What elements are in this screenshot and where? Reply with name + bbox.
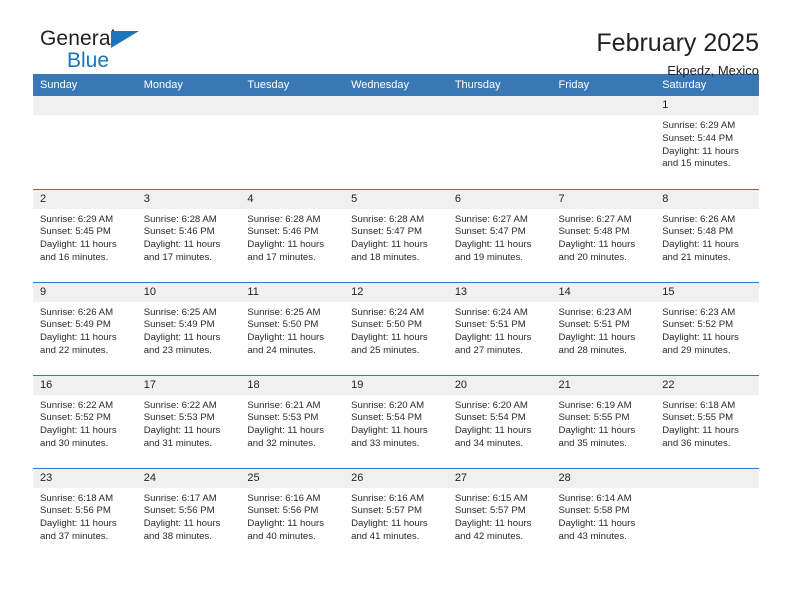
day-number: 3: [137, 190, 241, 209]
sunrise-text: Sunrise: 6:26 AM: [40, 307, 129, 320]
day-number: 14: [552, 283, 656, 302]
day-details: Sunrise: 6:28 AMSunset: 5:46 PMDaylight:…: [240, 209, 344, 265]
day-number: [240, 96, 344, 115]
day-number: 20: [448, 376, 552, 395]
daylight-text-cont: and 19 minutes.: [455, 252, 544, 265]
daylight-text: Daylight: 11 hours: [559, 425, 648, 438]
day-number: 8: [655, 190, 759, 209]
daylight-text-cont: and 38 minutes.: [144, 531, 233, 544]
day-number: 2: [33, 190, 137, 209]
day-details: Sunrise: 6:22 AMSunset: 5:53 PMDaylight:…: [137, 395, 241, 451]
calendar-day-cell[interactable]: 5Sunrise: 6:28 AMSunset: 5:47 PMDaylight…: [344, 189, 448, 282]
daylight-text: Daylight: 11 hours: [144, 518, 233, 531]
daylight-text: Daylight: 11 hours: [662, 425, 751, 438]
day-number: 26: [344, 469, 448, 488]
day-details: Sunrise: 6:28 AMSunset: 5:46 PMDaylight:…: [137, 209, 241, 265]
day-details: Sunrise: 6:23 AMSunset: 5:52 PMDaylight:…: [655, 302, 759, 358]
calendar-day-cell[interactable]: 20Sunrise: 6:20 AMSunset: 5:54 PMDayligh…: [448, 375, 552, 468]
day-number: [33, 96, 137, 115]
day-number: 5: [344, 190, 448, 209]
day-details: Sunrise: 6:16 AMSunset: 5:56 PMDaylight:…: [240, 488, 344, 544]
sunset-text: Sunset: 5:55 PM: [662, 412, 751, 425]
day-number: 9: [33, 283, 137, 302]
calendar-day-cell[interactable]: 4Sunrise: 6:28 AMSunset: 5:46 PMDaylight…: [240, 189, 344, 282]
sunrise-text: Sunrise: 6:18 AM: [40, 493, 129, 506]
sunset-text: Sunset: 5:51 PM: [455, 319, 544, 332]
daylight-text-cont: and 40 minutes.: [247, 531, 336, 544]
calendar-week-row: 2Sunrise: 6:29 AMSunset: 5:45 PMDaylight…: [33, 189, 759, 282]
calendar-day-cell[interactable]: 6Sunrise: 6:27 AMSunset: 5:47 PMDaylight…: [448, 189, 552, 282]
daylight-text-cont: and 28 minutes.: [559, 345, 648, 358]
page-subtitle: Ekpedz, Mexico: [596, 62, 759, 80]
day-number: 24: [137, 469, 241, 488]
day-number: [448, 96, 552, 115]
sunrise-sunset-calendar: Sunday Monday Tuesday Wednesday Thursday…: [33, 74, 759, 561]
daylight-text: Daylight: 11 hours: [144, 425, 233, 438]
sunset-text: Sunset: 5:45 PM: [40, 226, 129, 239]
sunrise-text: Sunrise: 6:24 AM: [351, 307, 440, 320]
calendar-day-cell[interactable]: 3Sunrise: 6:28 AMSunset: 5:46 PMDaylight…: [137, 189, 241, 282]
calendar-day-cell[interactable]: 25Sunrise: 6:16 AMSunset: 5:56 PMDayligh…: [240, 468, 344, 561]
daylight-text-cont: and 15 minutes.: [662, 158, 751, 171]
weekday-header-monday: Monday: [137, 74, 241, 96]
calendar-week-row: 1Sunrise: 6:29 AMSunset: 5:44 PMDaylight…: [33, 96, 759, 189]
daylight-text: Daylight: 11 hours: [455, 425, 544, 438]
calendar-empty-cell: [655, 468, 759, 561]
weekday-header-tuesday: Tuesday: [240, 74, 344, 96]
sunset-text: Sunset: 5:51 PM: [559, 319, 648, 332]
calendar-empty-cell: [240, 96, 344, 189]
calendar-day-cell[interactable]: 26Sunrise: 6:16 AMSunset: 5:57 PMDayligh…: [344, 468, 448, 561]
sunset-text: Sunset: 5:50 PM: [247, 319, 336, 332]
sunrise-text: Sunrise: 6:23 AM: [559, 307, 648, 320]
sunset-text: Sunset: 5:54 PM: [351, 412, 440, 425]
daylight-text-cont: and 22 minutes.: [40, 345, 129, 358]
daylight-text-cont: and 42 minutes.: [455, 531, 544, 544]
sunset-text: Sunset: 5:49 PM: [40, 319, 129, 332]
daylight-text: Daylight: 11 hours: [559, 239, 648, 252]
sunrise-text: Sunrise: 6:25 AM: [247, 307, 336, 320]
day-details: Sunrise: 6:19 AMSunset: 5:55 PMDaylight:…: [552, 395, 656, 451]
calendar-day-cell[interactable]: 24Sunrise: 6:17 AMSunset: 5:56 PMDayligh…: [137, 468, 241, 561]
day-number: 11: [240, 283, 344, 302]
daylight-text: Daylight: 11 hours: [662, 146, 751, 159]
sunrise-text: Sunrise: 6:28 AM: [351, 214, 440, 227]
sunset-text: Sunset: 5:44 PM: [662, 133, 751, 146]
daylight-text-cont: and 31 minutes.: [144, 438, 233, 451]
daylight-text: Daylight: 11 hours: [40, 518, 129, 531]
sunset-text: Sunset: 5:46 PM: [247, 226, 336, 239]
daylight-text: Daylight: 11 hours: [247, 239, 336, 252]
calendar-empty-cell: [448, 96, 552, 189]
sunrise-text: Sunrise: 6:27 AM: [455, 214, 544, 227]
sunset-text: Sunset: 5:57 PM: [455, 505, 544, 518]
logo-text-blue: Blue: [67, 51, 153, 71]
sunrise-text: Sunrise: 6:23 AM: [662, 307, 751, 320]
day-details: Sunrise: 6:15 AMSunset: 5:57 PMDaylight:…: [448, 488, 552, 544]
day-details: Sunrise: 6:23 AMSunset: 5:51 PMDaylight:…: [552, 302, 656, 358]
sunrise-text: Sunrise: 6:26 AM: [662, 214, 751, 227]
sunset-text: Sunset: 5:47 PM: [351, 226, 440, 239]
calendar-day-cell[interactable]: 2Sunrise: 6:29 AMSunset: 5:45 PMDaylight…: [33, 189, 137, 282]
calendar-day-cell[interactable]: 22Sunrise: 6:18 AMSunset: 5:55 PMDayligh…: [655, 375, 759, 468]
weekday-header-wednesday: Wednesday: [344, 74, 448, 96]
day-number: 28: [552, 469, 656, 488]
page-title: February 2025: [596, 29, 759, 58]
day-number: 23: [33, 469, 137, 488]
calendar-day-cell[interactable]: 15Sunrise: 6:23 AMSunset: 5:52 PMDayligh…: [655, 282, 759, 375]
calendar-week-row: 9Sunrise: 6:26 AMSunset: 5:49 PMDaylight…: [33, 282, 759, 375]
day-details: Sunrise: 6:20 AMSunset: 5:54 PMDaylight:…: [344, 395, 448, 451]
daylight-text-cont: and 33 minutes.: [351, 438, 440, 451]
day-number: 1: [655, 96, 759, 115]
general-blue-logo[interactable]: General Blue: [33, 28, 153, 76]
daylight-text: Daylight: 11 hours: [351, 239, 440, 252]
calendar-day-cell[interactable]: 17Sunrise: 6:22 AMSunset: 5:53 PMDayligh…: [137, 375, 241, 468]
sunset-text: Sunset: 5:53 PM: [144, 412, 233, 425]
title-block: February 2025 Ekpedz, Mexico: [596, 28, 759, 80]
sunrise-text: Sunrise: 6:19 AM: [559, 400, 648, 413]
daylight-text: Daylight: 11 hours: [351, 425, 440, 438]
day-details: Sunrise: 6:26 AMSunset: 5:48 PMDaylight:…: [655, 209, 759, 265]
sunrise-text: Sunrise: 6:29 AM: [40, 214, 129, 227]
daylight-text-cont: and 23 minutes.: [144, 345, 233, 358]
day-details: Sunrise: 6:27 AMSunset: 5:47 PMDaylight:…: [448, 209, 552, 265]
day-details: Sunrise: 6:18 AMSunset: 5:56 PMDaylight:…: [33, 488, 137, 544]
sunrise-text: Sunrise: 6:14 AM: [559, 493, 648, 506]
daylight-text-cont: and 16 minutes.: [40, 252, 129, 265]
weekday-header-sunday: Sunday: [33, 74, 137, 96]
daylight-text: Daylight: 11 hours: [455, 239, 544, 252]
calendar-empty-cell: [344, 96, 448, 189]
day-number: 21: [552, 376, 656, 395]
sunrise-text: Sunrise: 6:27 AM: [559, 214, 648, 227]
day-details: Sunrise: 6:27 AMSunset: 5:48 PMDaylight:…: [552, 209, 656, 265]
calendar-empty-cell: [552, 96, 656, 189]
daylight-text: Daylight: 11 hours: [144, 332, 233, 345]
daylight-text: Daylight: 11 hours: [662, 239, 751, 252]
daylight-text: Daylight: 11 hours: [351, 518, 440, 531]
daylight-text: Daylight: 11 hours: [40, 425, 129, 438]
sunset-text: Sunset: 5:57 PM: [351, 505, 440, 518]
calendar-empty-cell: [33, 96, 137, 189]
day-details: Sunrise: 6:21 AMSunset: 5:53 PMDaylight:…: [240, 395, 344, 451]
day-number: 15: [655, 283, 759, 302]
daylight-text: Daylight: 11 hours: [40, 332, 129, 345]
sunrise-text: Sunrise: 6:24 AM: [455, 307, 544, 320]
calendar-day-cell[interactable]: 16Sunrise: 6:22 AMSunset: 5:52 PMDayligh…: [33, 375, 137, 468]
sunrise-text: Sunrise: 6:22 AM: [40, 400, 129, 413]
day-details: Sunrise: 6:17 AMSunset: 5:56 PMDaylight:…: [137, 488, 241, 544]
daylight-text: Daylight: 11 hours: [247, 518, 336, 531]
day-number: 12: [344, 283, 448, 302]
calendar-day-cell[interactable]: 23Sunrise: 6:18 AMSunset: 5:56 PMDayligh…: [33, 468, 137, 561]
calendar-day-cell[interactable]: 7Sunrise: 6:27 AMSunset: 5:48 PMDaylight…: [552, 189, 656, 282]
daylight-text-cont: and 27 minutes.: [455, 345, 544, 358]
day-number: 16: [33, 376, 137, 395]
calendar-day-cell[interactable]: 9Sunrise: 6:26 AMSunset: 5:49 PMDaylight…: [33, 282, 137, 375]
daylight-text-cont: and 36 minutes.: [662, 438, 751, 451]
sunrise-text: Sunrise: 6:28 AM: [144, 214, 233, 227]
day-details: Sunrise: 6:14 AMSunset: 5:58 PMDaylight:…: [552, 488, 656, 544]
daylight-text: Daylight: 11 hours: [559, 518, 648, 531]
daylight-text-cont: and 18 minutes.: [351, 252, 440, 265]
sunrise-text: Sunrise: 6:28 AM: [247, 214, 336, 227]
sunset-text: Sunset: 5:58 PM: [559, 505, 648, 518]
sunset-text: Sunset: 5:50 PM: [351, 319, 440, 332]
daylight-text: Daylight: 11 hours: [662, 332, 751, 345]
day-details: Sunrise: 6:29 AMSunset: 5:44 PMDaylight:…: [655, 115, 759, 171]
day-number: 22: [655, 376, 759, 395]
daylight-text-cont: and 30 minutes.: [40, 438, 129, 451]
day-number: 17: [137, 376, 241, 395]
daylight-text-cont: and 37 minutes.: [40, 531, 129, 544]
day-number: [655, 469, 759, 488]
calendar-week-row: 16Sunrise: 6:22 AMSunset: 5:52 PMDayligh…: [33, 375, 759, 468]
calendar-day-cell[interactable]: 27Sunrise: 6:15 AMSunset: 5:57 PMDayligh…: [448, 468, 552, 561]
sunset-text: Sunset: 5:52 PM: [40, 412, 129, 425]
day-number: 4: [240, 190, 344, 209]
daylight-text-cont: and 21 minutes.: [662, 252, 751, 265]
day-details: Sunrise: 6:22 AMSunset: 5:52 PMDaylight:…: [33, 395, 137, 451]
sunset-text: Sunset: 5:56 PM: [144, 505, 233, 518]
calendar-day-cell[interactable]: 21Sunrise: 6:19 AMSunset: 5:55 PMDayligh…: [552, 375, 656, 468]
calendar-day-cell[interactable]: 11Sunrise: 6:25 AMSunset: 5:50 PMDayligh…: [240, 282, 344, 375]
daylight-text: Daylight: 11 hours: [559, 332, 648, 345]
daylight-text-cont: and 17 minutes.: [144, 252, 233, 265]
sunset-text: Sunset: 5:54 PM: [455, 412, 544, 425]
day-details: Sunrise: 6:24 AMSunset: 5:51 PMDaylight:…: [448, 302, 552, 358]
daylight-text: Daylight: 11 hours: [40, 239, 129, 252]
sunrise-text: Sunrise: 6:16 AM: [247, 493, 336, 506]
day-details: Sunrise: 6:20 AMSunset: 5:54 PMDaylight:…: [448, 395, 552, 451]
day-details: Sunrise: 6:16 AMSunset: 5:57 PMDaylight:…: [344, 488, 448, 544]
sunset-text: Sunset: 5:48 PM: [559, 226, 648, 239]
daylight-text: Daylight: 11 hours: [455, 518, 544, 531]
daylight-text: Daylight: 11 hours: [351, 332, 440, 345]
sunrise-text: Sunrise: 6:20 AM: [455, 400, 544, 413]
calendar-body: 1Sunrise: 6:29 AMSunset: 5:44 PMDaylight…: [33, 96, 759, 561]
sunrise-text: Sunrise: 6:15 AM: [455, 493, 544, 506]
sunrise-text: Sunrise: 6:29 AM: [662, 120, 751, 133]
daylight-text-cont: and 29 minutes.: [662, 345, 751, 358]
sunrise-text: Sunrise: 6:21 AM: [247, 400, 336, 413]
day-details: Sunrise: 6:25 AMSunset: 5:50 PMDaylight:…: [240, 302, 344, 358]
page-header: General Blue February 2025 Ekpedz, Mexic…: [33, 0, 759, 74]
calendar-day-cell[interactable]: 19Sunrise: 6:20 AMSunset: 5:54 PMDayligh…: [344, 375, 448, 468]
calendar-empty-cell: [137, 96, 241, 189]
calendar-day-cell[interactable]: 13Sunrise: 6:24 AMSunset: 5:51 PMDayligh…: [448, 282, 552, 375]
day-number: 13: [448, 283, 552, 302]
daylight-text: Daylight: 11 hours: [247, 332, 336, 345]
calendar-day-cell[interactable]: 18Sunrise: 6:21 AMSunset: 5:53 PMDayligh…: [240, 375, 344, 468]
sunset-text: Sunset: 5:46 PM: [144, 226, 233, 239]
calendar-day-cell[interactable]: 1Sunrise: 6:29 AMSunset: 5:44 PMDaylight…: [655, 96, 759, 189]
sunset-text: Sunset: 5:47 PM: [455, 226, 544, 239]
calendar-day-cell[interactable]: 8Sunrise: 6:26 AMSunset: 5:48 PMDaylight…: [655, 189, 759, 282]
sunset-text: Sunset: 5:55 PM: [559, 412, 648, 425]
daylight-text: Daylight: 11 hours: [247, 425, 336, 438]
daylight-text-cont: and 41 minutes.: [351, 531, 440, 544]
day-details: Sunrise: 6:25 AMSunset: 5:49 PMDaylight:…: [137, 302, 241, 358]
day-details: Sunrise: 6:28 AMSunset: 5:47 PMDaylight:…: [344, 209, 448, 265]
daylight-text-cont: and 24 minutes.: [247, 345, 336, 358]
sunset-text: Sunset: 5:56 PM: [247, 505, 336, 518]
daylight-text-cont: and 17 minutes.: [247, 252, 336, 265]
sunset-text: Sunset: 5:52 PM: [662, 319, 751, 332]
day-number: 7: [552, 190, 656, 209]
day-number: 25: [240, 469, 344, 488]
day-number: [137, 96, 241, 115]
sunset-text: Sunset: 5:49 PM: [144, 319, 233, 332]
daylight-text-cont: and 35 minutes.: [559, 438, 648, 451]
sunrise-text: Sunrise: 6:22 AM: [144, 400, 233, 413]
calendar-day-cell[interactable]: 10Sunrise: 6:25 AMSunset: 5:49 PMDayligh…: [137, 282, 241, 375]
sunrise-text: Sunrise: 6:20 AM: [351, 400, 440, 413]
calendar-day-cell[interactable]: 28Sunrise: 6:14 AMSunset: 5:58 PMDayligh…: [552, 468, 656, 561]
day-number: 6: [448, 190, 552, 209]
daylight-text-cont: and 32 minutes.: [247, 438, 336, 451]
day-number: [344, 96, 448, 115]
sunrise-text: Sunrise: 6:16 AM: [351, 493, 440, 506]
weekday-header-thursday: Thursday: [448, 74, 552, 96]
sunrise-text: Sunrise: 6:17 AM: [144, 493, 233, 506]
sunset-text: Sunset: 5:48 PM: [662, 226, 751, 239]
daylight-text: Daylight: 11 hours: [455, 332, 544, 345]
sunrise-text: Sunrise: 6:25 AM: [144, 307, 233, 320]
day-details: Sunrise: 6:26 AMSunset: 5:49 PMDaylight:…: [33, 302, 137, 358]
day-number: 19: [344, 376, 448, 395]
calendar-week-row: 23Sunrise: 6:18 AMSunset: 5:56 PMDayligh…: [33, 468, 759, 561]
calendar-page: General Blue February 2025 Ekpedz, Mexic…: [0, 0, 792, 612]
sunrise-text: Sunrise: 6:18 AM: [662, 400, 751, 413]
calendar-day-cell[interactable]: 12Sunrise: 6:24 AMSunset: 5:50 PMDayligh…: [344, 282, 448, 375]
day-number: 27: [448, 469, 552, 488]
daylight-text-cont: and 25 minutes.: [351, 345, 440, 358]
daylight-text-cont: and 43 minutes.: [559, 531, 648, 544]
day-number: [552, 96, 656, 115]
day-number: 18: [240, 376, 344, 395]
day-details: Sunrise: 6:29 AMSunset: 5:45 PMDaylight:…: [33, 209, 137, 265]
daylight-text-cont: and 34 minutes.: [455, 438, 544, 451]
sunset-text: Sunset: 5:53 PM: [247, 412, 336, 425]
daylight-text-cont: and 20 minutes.: [559, 252, 648, 265]
day-details: Sunrise: 6:24 AMSunset: 5:50 PMDaylight:…: [344, 302, 448, 358]
daylight-text: Daylight: 11 hours: [144, 239, 233, 252]
day-number: 10: [137, 283, 241, 302]
logo-triangle-icon: [111, 31, 139, 48]
day-details: Sunrise: 6:18 AMSunset: 5:55 PMDaylight:…: [655, 395, 759, 451]
calendar-day-cell[interactable]: 14Sunrise: 6:23 AMSunset: 5:51 PMDayligh…: [552, 282, 656, 375]
sunset-text: Sunset: 5:56 PM: [40, 505, 129, 518]
